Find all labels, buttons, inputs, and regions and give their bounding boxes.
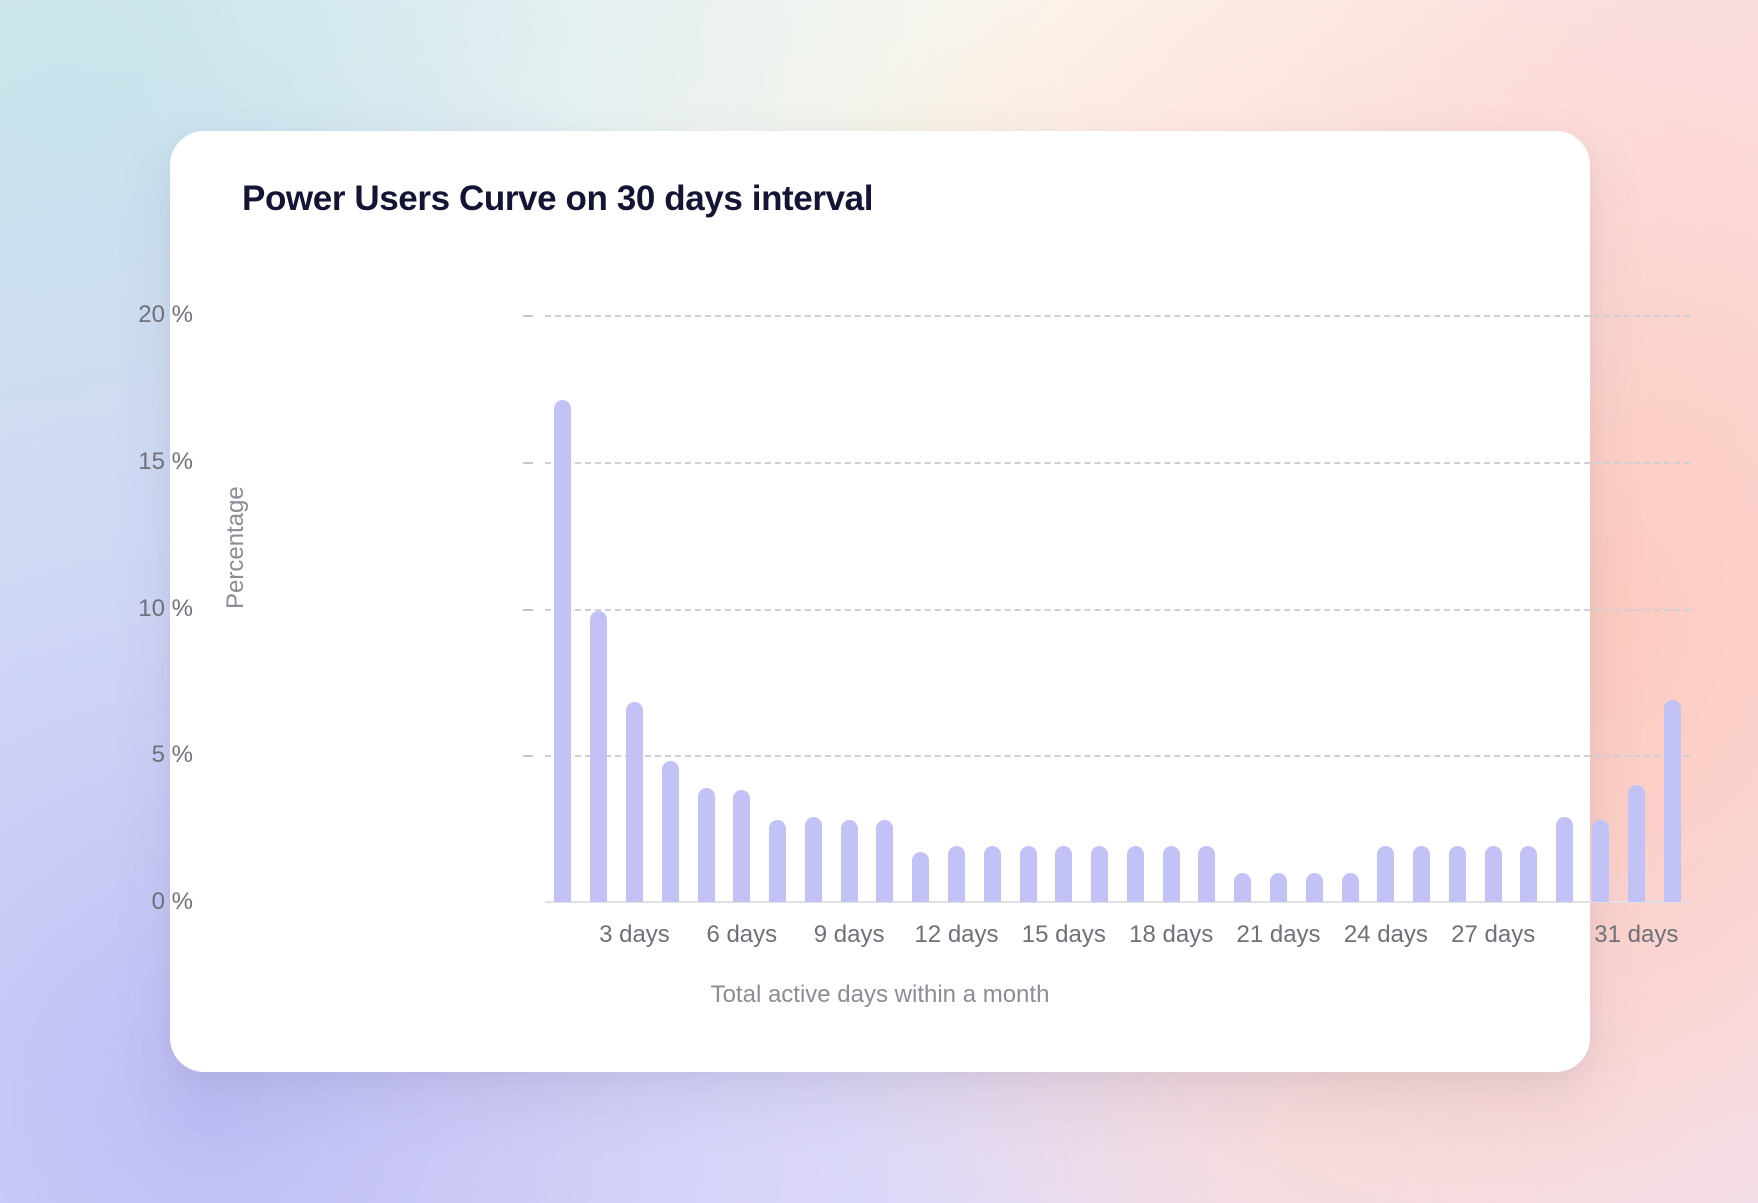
- x-tick-label: 3 days: [599, 921, 670, 949]
- x-axis-label: Total active days within a month: [170, 981, 1590, 1009]
- bar[interactable]: [769, 820, 786, 902]
- chart-plot-area: Percentage 0 %5 %10 %15 %20 % 3 days6 da…: [170, 131, 1590, 1072]
- x-tick-label: 31 days: [1594, 921, 1678, 949]
- bar[interactable]: [1449, 846, 1466, 902]
- y-tick-label: 20 %: [138, 301, 193, 329]
- bar[interactable]: [590, 611, 607, 902]
- x-tick-label: 21 days: [1236, 921, 1320, 949]
- x-tick-label: 9 days: [814, 921, 885, 949]
- y-tick-mark: [523, 755, 533, 757]
- y-tick-mark: [523, 315, 533, 317]
- bar[interactable]: [1198, 846, 1215, 902]
- bar[interactable]: [662, 761, 679, 902]
- y-axis-label: Percentage: [222, 486, 250, 609]
- page-root: { "card": { "title": "Power Users Curve …: [0, 0, 1758, 1203]
- bar[interactable]: [1377, 846, 1394, 902]
- bar[interactable]: [698, 788, 715, 902]
- bar[interactable]: [948, 846, 965, 902]
- x-tick-label: 18 days: [1129, 921, 1213, 949]
- bar[interactable]: [1485, 846, 1502, 902]
- bar[interactable]: [1592, 820, 1609, 902]
- x-tick-label: 12 days: [914, 921, 998, 949]
- x-tick-label: 6 days: [706, 921, 777, 949]
- x-tick-label: 27 days: [1451, 921, 1535, 949]
- bar[interactable]: [984, 846, 1001, 902]
- y-tick-label: 15 %: [138, 448, 193, 476]
- bar[interactable]: [1342, 873, 1359, 902]
- y-tick-mark: [523, 462, 533, 464]
- y-tick-label: 5 %: [152, 741, 193, 769]
- bar[interactable]: [841, 820, 858, 902]
- bar[interactable]: [1163, 846, 1180, 902]
- bar[interactable]: [1520, 846, 1537, 902]
- bar[interactable]: [1020, 846, 1037, 902]
- bar[interactable]: [626, 702, 643, 902]
- x-tick-label: 15 days: [1022, 921, 1106, 949]
- y-tick-label: 10 %: [138, 595, 193, 623]
- bar[interactable]: [733, 790, 750, 902]
- bar[interactable]: [1306, 873, 1323, 902]
- bar[interactable]: [1664, 700, 1681, 903]
- y-tick-label: 0 %: [152, 888, 193, 916]
- bar[interactable]: [554, 400, 571, 902]
- chart-card: Power Users Curve on 30 days interval Pe…: [170, 131, 1590, 1072]
- bar[interactable]: [1091, 846, 1108, 902]
- bar[interactable]: [805, 817, 822, 902]
- y-tick-mark: [523, 609, 533, 611]
- bar[interactable]: [1413, 846, 1430, 902]
- bar[interactable]: [1270, 873, 1287, 902]
- bar[interactable]: [1055, 846, 1072, 902]
- bar[interactable]: [1628, 785, 1645, 902]
- x-tick-label: 24 days: [1344, 921, 1428, 949]
- bar[interactable]: [912, 852, 929, 902]
- bar[interactable]: [1556, 817, 1573, 902]
- bars-group: [545, 315, 1690, 902]
- bar[interactable]: [876, 820, 893, 902]
- bar[interactable]: [1234, 873, 1251, 902]
- bar[interactable]: [1127, 846, 1144, 902]
